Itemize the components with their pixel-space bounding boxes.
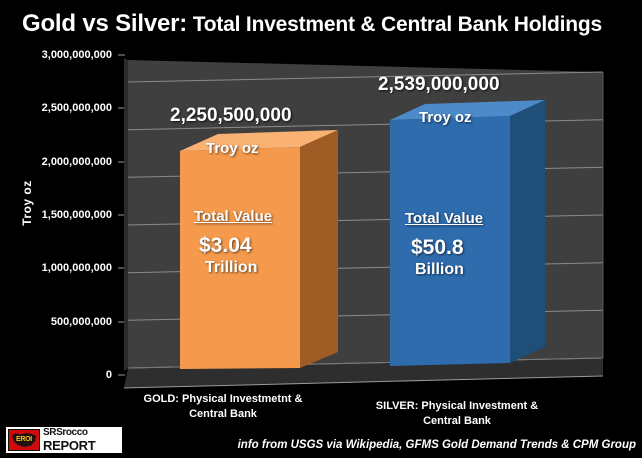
y-tick-label-3: 1,500,000,000 [42, 209, 112, 221]
source-note: info from USGS via Wikipedia, GFMS Gold … [238, 439, 636, 451]
y-tick-label-5: 2,500,000,000 [42, 102, 112, 114]
y-axis-ticks: 0 500,000,000 1,000,000,000 1,500,000,00… [0, 55, 118, 375]
eroi-map-icon: EROI [8, 429, 40, 451]
plot-left-wall [124, 58, 128, 371]
eroi-badge-text: EROI [9, 436, 39, 443]
silver-total-value-amount: $50.8 [411, 236, 464, 260]
chart-title-rest: Total Investment & Central Bank Holdings [187, 13, 602, 36]
chart-title-strong: Gold vs Silver: [22, 10, 187, 37]
gold-total-value-amount: $3.04 [199, 234, 252, 258]
silver-total-value-label: Total Value [405, 210, 483, 227]
logo-wordmark: SRSrocco REPORT [43, 428, 95, 452]
category-label-silver: SILVER: Physical Investment & Central Ba… [334, 399, 580, 429]
logo-line-report: REPORT [43, 439, 95, 452]
y-tick-label-0: 0 [106, 369, 112, 381]
logo-line-srsrocco: SRSrocco [43, 428, 95, 438]
y-tick-label-1: 500,000,000 [51, 316, 112, 328]
y-tickmark-6 [118, 55, 125, 56]
category-label-gold-line1: GOLD: Physical Investmetnt & [112, 392, 334, 407]
silver-value-label: 2,539,000,000 [378, 74, 500, 96]
category-label-silver-line2: Central Bank [334, 414, 580, 429]
gold-unit-label: Troy oz [206, 140, 259, 157]
gold-bar-side [300, 130, 338, 368]
gold-total-value-label: Total Value [194, 208, 272, 225]
category-label-gold-line2: Central Bank [112, 407, 334, 422]
chart-title: Gold vs Silver: Total Investment & Centr… [22, 10, 632, 44]
silver-bar-side [510, 100, 545, 363]
srsrocco-report-logo[interactable]: EROI SRSrocco REPORT [6, 427, 122, 453]
gold-value-label: 2,250,500,000 [170, 105, 292, 127]
y-tick-label-2: 1,000,000,000 [42, 262, 112, 274]
silver-total-value-scale: Billion [415, 261, 464, 279]
y-tick-label-6: 3,000,000,000 [42, 49, 112, 61]
y-tick-label-4: 2,000,000,000 [42, 156, 112, 168]
gold-bar-front [180, 147, 300, 369]
silver-unit-label: Troy oz [419, 109, 472, 126]
gold-total-value-scale: Trillion [205, 259, 257, 277]
chart-container: Gold vs Silver: Total Investment & Centr… [0, 0, 642, 458]
category-label-gold: GOLD: Physical Investmetnt & Central Ban… [112, 392, 334, 422]
category-label-silver-line1: SILVER: Physical Investment & [334, 399, 580, 414]
